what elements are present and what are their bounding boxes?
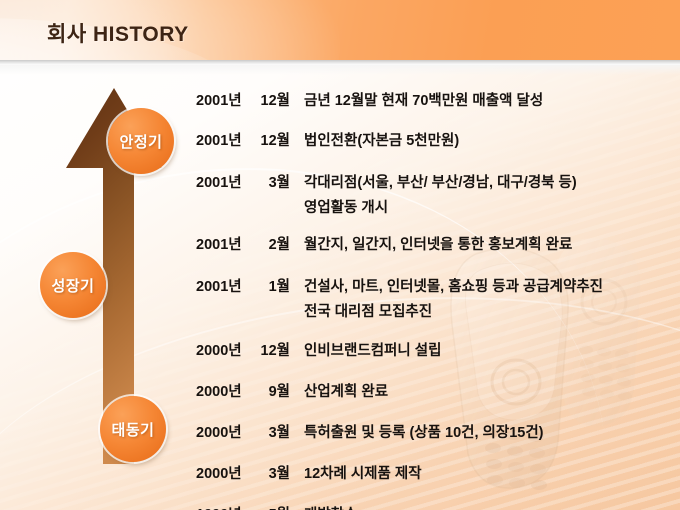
- header-divider-fade: [0, 65, 680, 75]
- stage-badge-label: 성장기: [52, 275, 95, 296]
- history-entry: 1999년 5월 개발착수: [196, 503, 666, 510]
- history-list: 2001년 12월 금년 12월말 현재 70백만원 매출액 달성 2001년 …: [196, 84, 666, 510]
- history-entry: 2001년 12월 법인전환(자본금 5천만원): [196, 129, 666, 150]
- history-month: 5월: [248, 503, 290, 510]
- stage-badge-label: 안정기: [120, 131, 163, 152]
- history-description-continued: 전국 대리점 모집추진: [290, 300, 432, 321]
- history-description: 산업계획 완료: [290, 380, 388, 401]
- page-title: 회사 HISTORY: [47, 18, 189, 48]
- history-year: 2001년: [196, 233, 248, 254]
- history-month: 3월: [248, 421, 290, 442]
- history-entry: 2001년 3월 각대리점(서울, 부산/ 부산/경남, 대구/경북 등) 영업…: [196, 171, 666, 217]
- history-month: 1월: [248, 275, 290, 296]
- history-year: 2001년: [196, 275, 248, 296]
- history-entry: 2001년 1월 건설사, 마트, 인터넷몰, 홈쇼핑 등과 공급계약추진 전국…: [196, 275, 666, 321]
- history-entry: 2000년 12월 인비브랜드컴퍼니 설립: [196, 339, 666, 360]
- history-month: 3월: [248, 462, 290, 483]
- history-year: 2000년: [196, 380, 248, 401]
- history-month: 12월: [248, 129, 290, 150]
- history-year: 2001년: [196, 89, 248, 110]
- stage-badge-growth[interactable]: 성장기: [40, 252, 106, 318]
- history-year: 1999년: [196, 503, 248, 510]
- history-description: 금년 12월말 현재 70백만원 매출액 달성: [290, 89, 543, 110]
- history-description: 12차례 시제품 제작: [290, 462, 422, 483]
- history-entry: 2001년 12월 금년 12월말 현재 70백만원 매출액 달성: [196, 89, 666, 110]
- history-description: 인비브랜드컴퍼니 설립: [290, 339, 441, 360]
- history-year: 2000년: [196, 421, 248, 442]
- slide-canvas: 회사 HISTORY 안정기 성장기 태동기: [0, 0, 680, 510]
- history-description: 법인전환(자본금 5천만원): [290, 129, 459, 150]
- stage-badge-label: 태동기: [112, 419, 155, 440]
- history-entry: 2000년 3월 12차례 시제품 제작: [196, 462, 666, 483]
- history-month: 2월: [248, 233, 290, 254]
- history-month: 12월: [248, 339, 290, 360]
- history-year: 2000년: [196, 339, 248, 360]
- history-description-continued: 영업활동 개시: [290, 196, 388, 217]
- history-description: 월간지, 일간지, 인터넷을 통한 홍보계획 완료: [290, 233, 572, 254]
- history-month: 9월: [248, 380, 290, 401]
- history-description: 건설사, 마트, 인터넷몰, 홈쇼핑 등과 공급계약추진: [290, 275, 603, 296]
- history-month: 3월: [248, 171, 290, 192]
- history-description: 개발착수: [290, 503, 357, 510]
- history-entry: 2000년 3월 특허출원 및 등록 (상품 10건, 의장15건): [196, 421, 666, 442]
- history-description: 각대리점(서울, 부산/ 부산/경남, 대구/경북 등): [290, 171, 577, 192]
- history-year: 2001년: [196, 171, 248, 192]
- history-year: 2000년: [196, 462, 248, 483]
- history-year: 2001년: [196, 129, 248, 150]
- history-month: 12월: [248, 89, 290, 110]
- history-entry: 2000년 9월 산업계획 완료: [196, 380, 666, 401]
- history-description: 특허출원 및 등록 (상품 10건, 의장15건): [290, 421, 544, 442]
- history-entry: 2001년 2월 월간지, 일간지, 인터넷을 통한 홍보계획 완료: [196, 233, 666, 254]
- stage-badge-stability[interactable]: 안정기: [108, 108, 174, 174]
- stage-badge-inception[interactable]: 태동기: [100, 396, 166, 462]
